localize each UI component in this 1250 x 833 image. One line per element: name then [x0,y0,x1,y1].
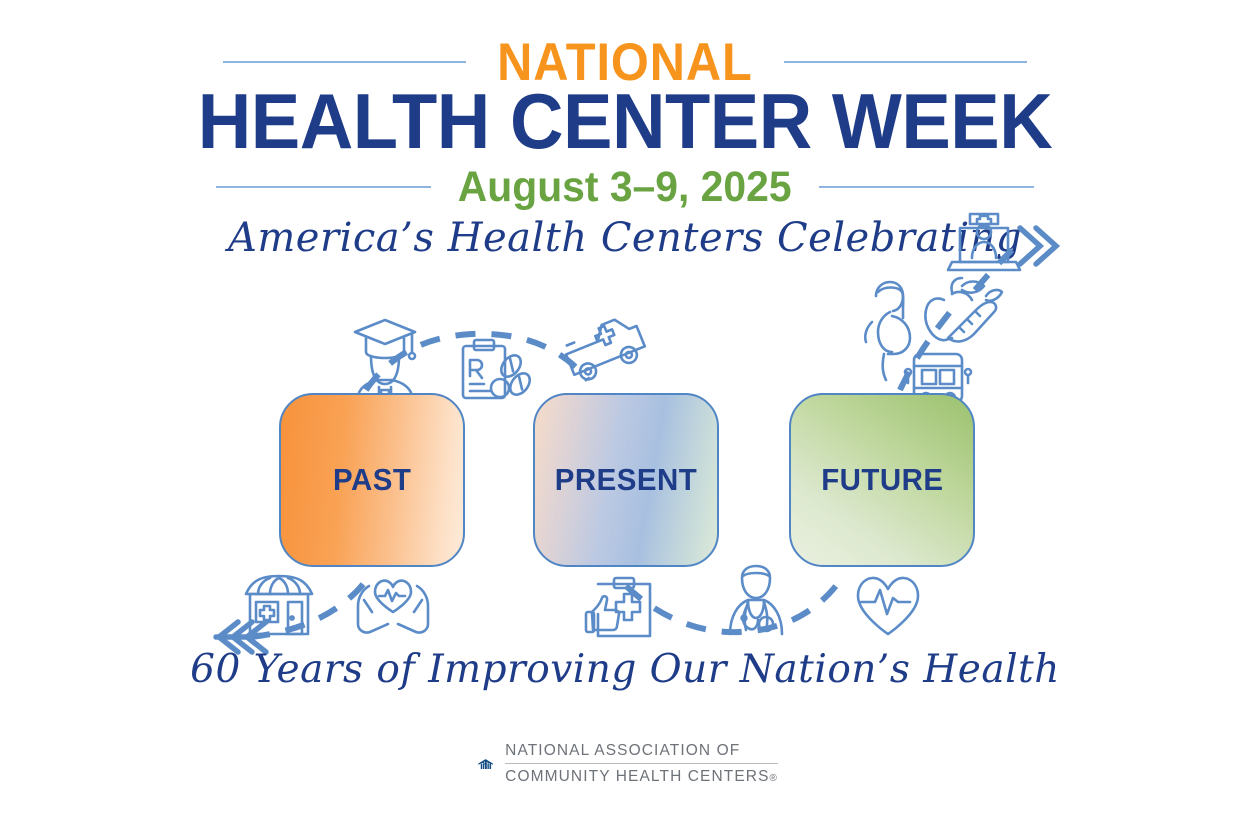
nachc-logo[interactable]: NATIONAL ASSOCIATION OF COMMUNITY HEALTH… [478,728,778,800]
nachc-house-family-logo [478,733,493,795]
logo-line-2: COMMUNITY HEALTH CENTERS® [505,764,778,786]
logo-line-1: NATIONAL ASSOCIATION OF [505,742,778,764]
timeline-box-future[interactable]: FUTURE [789,393,975,567]
timeline-box-present-label: PRESENT [555,462,697,498]
timeline-box-past[interactable]: PAST [279,393,465,567]
timeline-boxes: PAST PRESENT FUTURE [0,0,1250,833]
nachc-logo-text: NATIONAL ASSOCIATION OF COMMUNITY HEALTH… [505,742,778,786]
poster-canvas: NATIONAL HEALTH CENTER WEEK August 3–9, … [0,0,1250,833]
timeline-box-present[interactable]: PRESENT [533,393,719,567]
timeline-box-future-label: FUTURE [821,462,943,498]
registered-mark: ® [770,773,778,784]
timeline-box-past-label: PAST [333,462,411,498]
logo-line-2-text: COMMUNITY HEALTH CENTERS [505,768,769,785]
tagline-bottom: 60 Years of Improving Our Nation’s Healt… [0,650,1250,689]
